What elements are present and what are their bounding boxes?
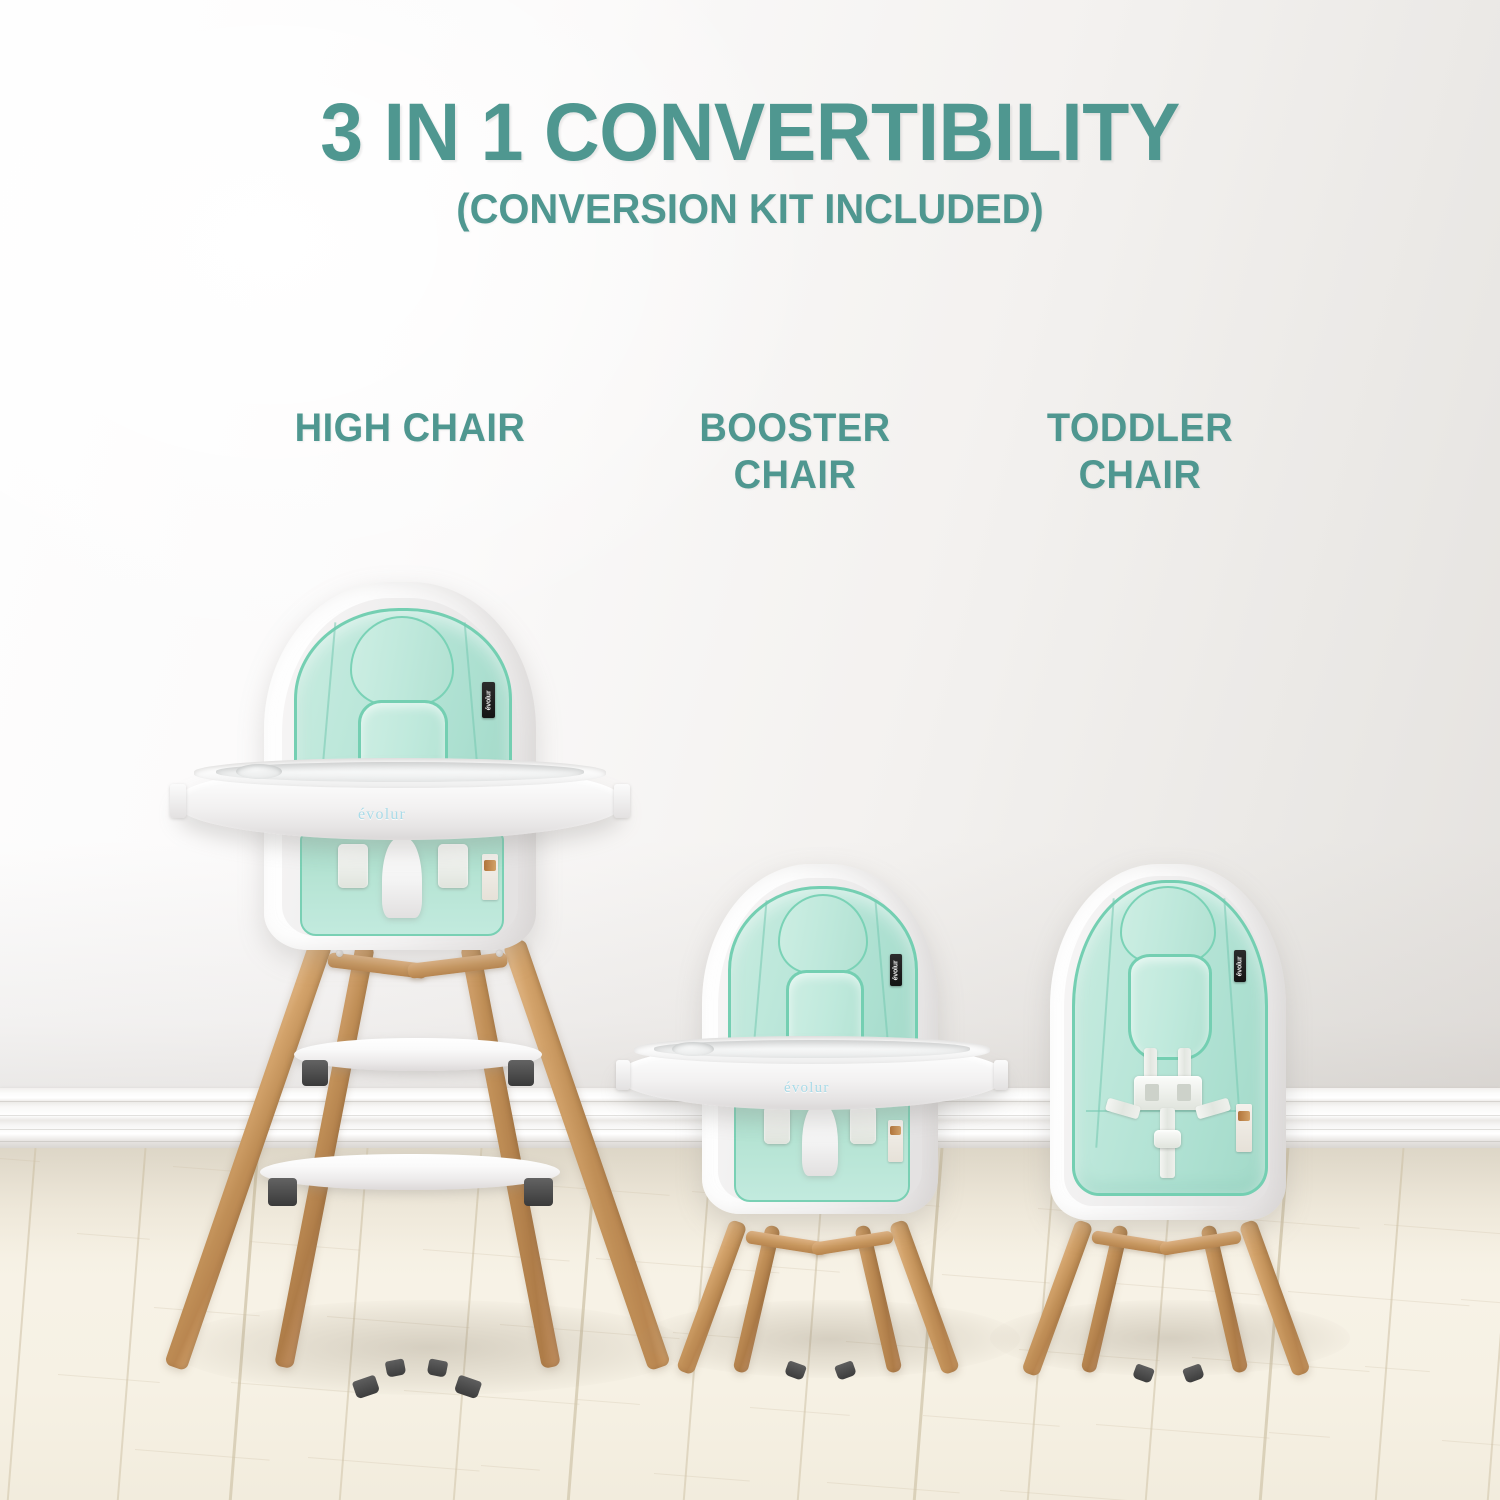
caption-booster-chair-line2: CHAIR <box>610 452 981 499</box>
toddler-chair-warning-label <box>1236 1104 1252 1152</box>
toddler-chair-tag-text: évolur <box>1237 956 1244 976</box>
caption-high-chair-line1: HIGH CHAIR <box>192 405 629 452</box>
floor-grain <box>1269 1432 1330 1438</box>
booster-chair-tray-latch-left[interactable] <box>616 1060 630 1090</box>
booster-chair-foot-front-right <box>834 1360 857 1381</box>
product-booster-chair[interactable]: évolur évolur <box>620 858 1020 1378</box>
toddler-chair-harness-crotch-adjuster[interactable] <box>1154 1130 1181 1148</box>
high-chair-tag-text: évolur <box>485 690 492 710</box>
high-chair-warning-label <box>482 854 498 900</box>
caption-high-chair: HIGH CHAIR <box>192 405 629 452</box>
floor-grain <box>577 1399 640 1405</box>
high-chair-crotch-post <box>382 838 422 918</box>
floor-grain <box>58 1374 160 1383</box>
toddler-chair-harness-buckle-slot-left <box>1145 1084 1159 1101</box>
high-chair-leg-yoke-right <box>407 952 508 979</box>
page-title: 3 IN 1 CONVERTIBILITY <box>45 92 1455 174</box>
high-chair-cushion-brand-tag: évolur <box>482 682 495 718</box>
floor-grain <box>750 1407 850 1416</box>
caption-booster-chair: BOOSTER CHAIR <box>610 405 981 499</box>
product-image-canvas: 3 IN 1 CONVERTIBILITY (CONVERSION KIT IN… <box>0 0 1500 1500</box>
high-chair-tray-brand-logo: évolur <box>358 806 406 824</box>
toddler-chair-leg-front-right <box>1239 1219 1311 1377</box>
caption-toddler-chair: TODDLER CHAIR <box>960 405 1321 499</box>
high-chair-leg-front-left <box>164 938 332 1371</box>
booster-chair-warning-label <box>888 1120 903 1162</box>
page-subtitle: (CONVERSION KIT INCLUDED) <box>38 188 1463 230</box>
high-chair-harness-buckle-left <box>338 844 368 888</box>
high-chair-tray-cup-holder <box>236 764 282 779</box>
heading-block: 3 IN 1 CONVERTIBILITY (CONVERSION KIT IN… <box>0 92 1500 230</box>
high-chair-yoke-screw-left <box>336 950 343 957</box>
high-chair-footrest-upper <box>294 1038 542 1071</box>
booster-chair-leg-front-right <box>889 1219 961 1376</box>
toddler-chair-crotch-pad <box>1128 954 1212 1060</box>
high-chair-tray-latch-left[interactable] <box>170 784 186 818</box>
product-high-chair[interactable]: évolur évolur <box>160 560 660 1380</box>
floor-grain <box>135 1449 270 1461</box>
floor-grain <box>654 1473 750 1482</box>
product-toddler-chair[interactable]: évolur <box>1000 858 1340 1378</box>
caption-toddler-chair-line2: CHAIR <box>960 452 1321 499</box>
floor-grain <box>827 1482 960 1493</box>
high-chair-harness-buckle-right <box>438 844 468 888</box>
floor-grain <box>923 1415 1060 1427</box>
toddler-chair-leg-front-left <box>1021 1219 1093 1377</box>
toddler-chair-harness-buckle-slot-right <box>1177 1084 1191 1101</box>
booster-chair-crotch-post <box>802 1104 838 1176</box>
booster-chair-leg-yoke-right <box>811 1230 894 1256</box>
high-chair-footrest-lower-clip-right <box>524 1178 553 1206</box>
floor-grain <box>1365 1366 1430 1372</box>
high-chair-tray-latch-right[interactable] <box>614 784 630 818</box>
high-chair-foot-rear-right <box>385 1358 407 1377</box>
toddler-chair-cushion-brand-tag: évolur <box>1234 950 1246 982</box>
high-chair-foot-rear-left <box>427 1358 449 1377</box>
floor-grain <box>1096 1424 1270 1439</box>
high-chair-footrest-upper-clip-right <box>508 1060 534 1086</box>
booster-chair-cushion-brand-tag: évolur <box>890 954 902 986</box>
floor-grain <box>308 1457 480 1471</box>
booster-chair-harness-buckle-left <box>764 1106 790 1144</box>
toddler-chair-leg-yoke-right <box>1159 1230 1242 1256</box>
booster-chair-tray-brand-logo: évolur <box>784 1080 830 1097</box>
booster-chair-tag-text: évolur <box>893 960 900 980</box>
booster-chair-harness-buckle-right <box>850 1106 876 1144</box>
booster-chair-tray-cup-holder <box>672 1042 714 1056</box>
caption-toddler-chair-line1: TODDLER <box>960 405 1321 452</box>
floor-grain <box>481 1465 540 1471</box>
high-chair-footrest-lower <box>260 1154 560 1190</box>
caption-booster-chair-line1: BOOSTER <box>610 405 981 452</box>
booster-chair-foot-front-left <box>784 1360 807 1381</box>
high-chair-footrest-upper-clip-left <box>302 1060 328 1086</box>
high-chair-yoke-screw-right <box>496 950 503 957</box>
high-chair-footrest-lower-clip-left <box>268 1178 297 1206</box>
